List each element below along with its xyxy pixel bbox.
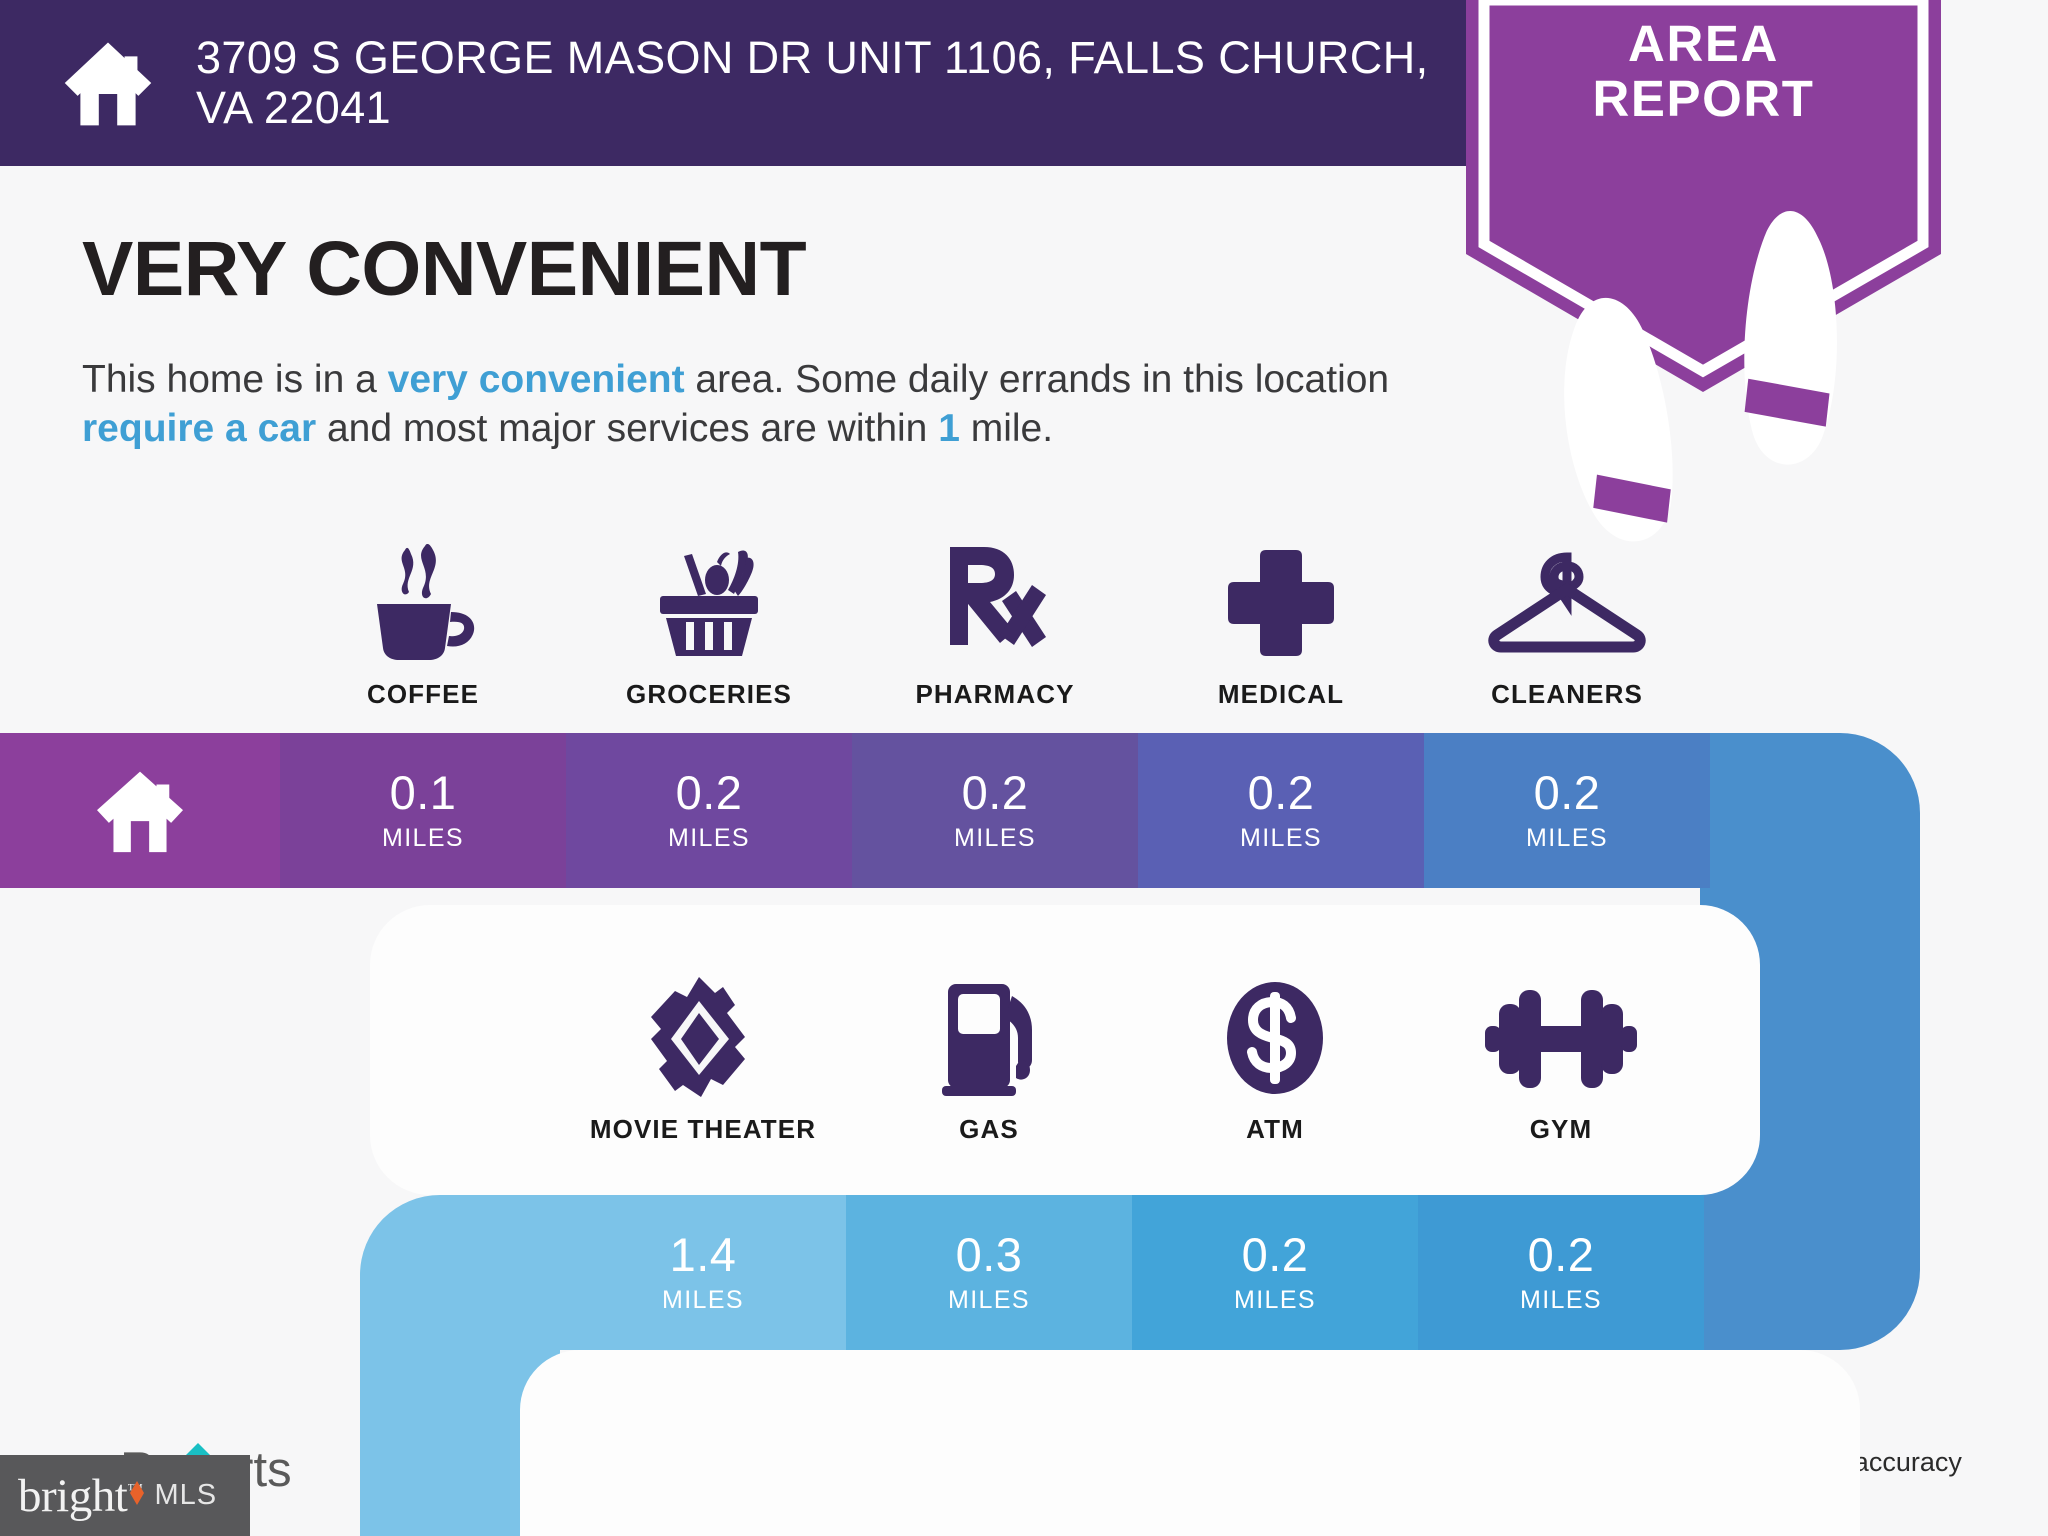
distance-unit: MILES [1234, 1286, 1316, 1315]
area-report-badge: AREA REPORT [1466, 0, 1941, 392]
dumbbell-icon [1485, 978, 1637, 1098]
distance-value: 0.2 [676, 769, 743, 816]
distance-cell-gym: 0.2 MILES [1418, 1195, 1704, 1350]
amenity-label: MOVIE THEATER [590, 1114, 816, 1145]
distance-cell-medical: 0.2 MILES [1138, 733, 1424, 888]
amenity-label: ATM [1246, 1114, 1304, 1145]
distance-value: 0.2 [962, 769, 1029, 816]
logo-diamond-icon [130, 1481, 144, 1493]
distance-cell-coffee: 0.1 MILES [280, 733, 566, 888]
distance-value: 0.2 [1528, 1231, 1595, 1278]
footprints-icon [1466, 172, 1941, 578]
amenity-icon-row-2: MOVIE THEATER GAS ATM [560, 955, 1704, 1145]
footer-card [520, 1350, 1860, 1536]
prescription-rx-icon [942, 543, 1048, 663]
gas-pump-icon [934, 978, 1044, 1098]
distance-cell-pharmacy: 0.2 MILES [852, 733, 1138, 888]
movie-ticket-icon [645, 978, 761, 1098]
logo-text: bright [18, 1470, 127, 1522]
logo-subtext: MLS [154, 1479, 217, 1512]
distance-unit: MILES [1520, 1286, 1602, 1315]
badge-title: AREA REPORT [1466, 16, 1941, 126]
distance-cell-gas: 0.3 MILES [846, 1195, 1132, 1350]
distance-cell-movie-theater: 1.4 MILES [560, 1195, 846, 1350]
atm-dollar-icon [1219, 978, 1331, 1098]
distance-bar-row-1: 0.1 MILES 0.2 MILES 0.2 MILES 0.2 MILES … [0, 733, 1710, 888]
distance-unit: MILES [1526, 824, 1608, 853]
amenity-pharmacy: PHARMACY [852, 520, 1138, 710]
medical-cross-icon [1226, 543, 1336, 663]
distance-unit: MILES [954, 824, 1036, 853]
amenity-gym: GYM [1418, 955, 1704, 1145]
amenity-label: COFFEE [367, 679, 479, 710]
distance-value: 0.2 [1534, 769, 1601, 816]
amenity-label: GYM [1530, 1114, 1593, 1145]
bright-mls-logo: bright™ MLS [0, 1455, 250, 1536]
amenity-medical: MEDICAL [1138, 520, 1424, 710]
amenity-movie-theater: MOVIE THEATER [560, 955, 846, 1145]
coffee-cup-icon [363, 543, 483, 663]
row2-left-cap [360, 1195, 560, 1350]
amenity-label: PHARMACY [915, 679, 1074, 710]
distance-value: 1.4 [670, 1231, 737, 1278]
amenity-atm: ATM [1132, 955, 1418, 1145]
home-icon [94, 768, 186, 854]
report-header: 3709 S GEORGE MASON DR UNIT 1106, FALLS … [0, 0, 1466, 166]
home-icon [62, 37, 154, 129]
grocery-basket-icon [646, 543, 772, 663]
amenity-label: GROCERIES [626, 679, 792, 710]
amenity-label: CLEANERS [1491, 679, 1643, 710]
origin-home-cell [0, 733, 280, 888]
distance-value: 0.1 [390, 769, 457, 816]
amenity-gas: GAS [846, 955, 1132, 1145]
amenity-coffee: COFFEE [280, 520, 566, 710]
distance-value: 0.2 [1248, 769, 1315, 816]
distance-unit: MILES [662, 1286, 744, 1315]
amenity-label: GAS [959, 1114, 1019, 1145]
distance-cell-groceries: 0.2 MILES [566, 733, 852, 888]
distance-unit: MILES [382, 824, 464, 853]
distance-value: 0.3 [956, 1231, 1023, 1278]
distance-unit: MILES [948, 1286, 1030, 1315]
distance-cell-cleaners: 0.2 MILES [1424, 733, 1710, 888]
amenity-label: MEDICAL [1218, 679, 1344, 710]
amenity-groceries: GROCERIES [566, 520, 852, 710]
property-address: 3709 S GEORGE MASON DR UNIT 1106, FALLS … [196, 33, 1436, 134]
distance-unit: MILES [668, 824, 750, 853]
badge-line-1: AREA [1466, 16, 1941, 71]
distance-cell-atm: 0.2 MILES [1132, 1195, 1418, 1350]
distance-value: 0.2 [1242, 1231, 1309, 1278]
distance-bar-row-2: 1.4 MILES 0.3 MILES 0.2 MILES 0.2 MILES [560, 1195, 1704, 1350]
distance-unit: MILES [1240, 824, 1322, 853]
badge-line-2: REPORT [1466, 71, 1941, 126]
